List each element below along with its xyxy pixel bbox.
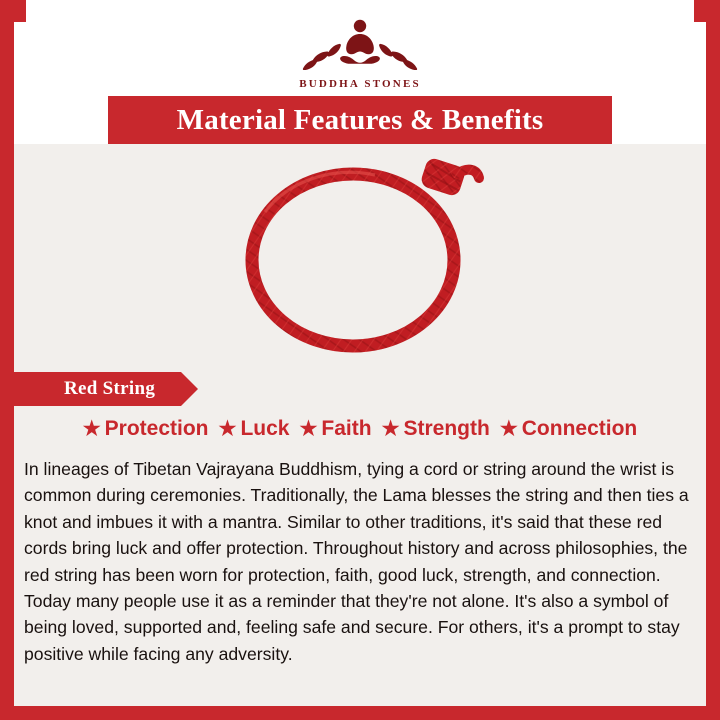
red-braided-string-bracelet-image [225,152,495,367]
product-label-tab: Red String [14,372,181,406]
benefit-item-strength: ★ Strength [372,418,490,439]
frame-border-right [706,0,720,720]
description-paragraph: In lineages of Tibetan Vajrayana Buddhis… [24,456,698,667]
star-icon: ★ [83,419,101,439]
infographic-page: BUDDHA STONES Material Features & Benefi… [0,0,720,720]
brand-name: BUDDHA STONES [0,78,720,90]
benefit-label: Protection [105,418,209,439]
brand-logo: BUDDHA STONES [0,16,720,90]
page-title: Material Features & Benefits [177,104,544,137]
benefit-item-luck: ★ Luck [209,418,290,439]
benefits-row: ★ Protection ★ Luck ★ Faith ★ Strength ★… [14,418,706,439]
banner-wing-right [612,96,706,144]
frame-border-left [0,0,14,720]
product-image-area [14,144,706,366]
star-icon: ★ [500,419,518,439]
frame-border-bottom [0,706,720,720]
benefit-label: Connection [522,418,638,439]
banner-wing-left [14,96,108,144]
lotus-meditation-figure-icon [0,16,720,75]
benefit-item-protection: ★ Protection [83,418,209,439]
star-icon: ★ [299,419,317,439]
benefit-label: Strength [404,418,490,439]
product-label-text: Red String [64,378,155,400]
benefit-label: Luck [240,418,289,439]
benefit-item-connection: ★ Connection [490,418,637,439]
star-icon: ★ [382,419,400,439]
page-title-banner: Material Features & Benefits [108,96,612,144]
star-icon: ★ [219,419,237,439]
benefit-item-faith: ★ Faith [289,418,371,439]
benefit-label: Faith [321,418,371,439]
